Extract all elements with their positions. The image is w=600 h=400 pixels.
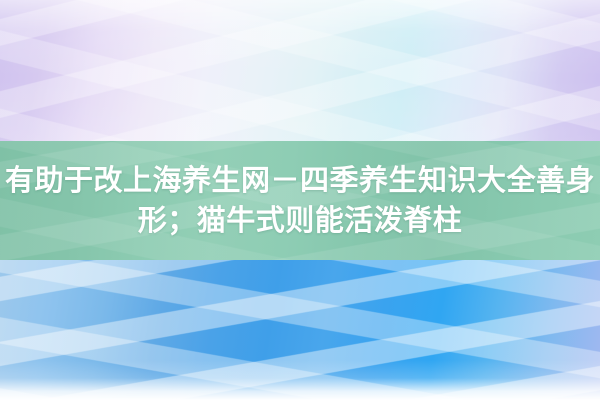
background-zone-bottom-blue xyxy=(0,260,600,400)
decorative-article-banner: 有助于改上海养生网－四季养生知识大全善身形；猫牛式则能活泼脊柱 xyxy=(0,0,600,400)
banner-headline-text: 有助于改上海养生网－四季养生知识大全善身形；猫牛式则能活泼脊柱 xyxy=(0,160,600,240)
background-zone-top-lavender xyxy=(0,0,600,141)
